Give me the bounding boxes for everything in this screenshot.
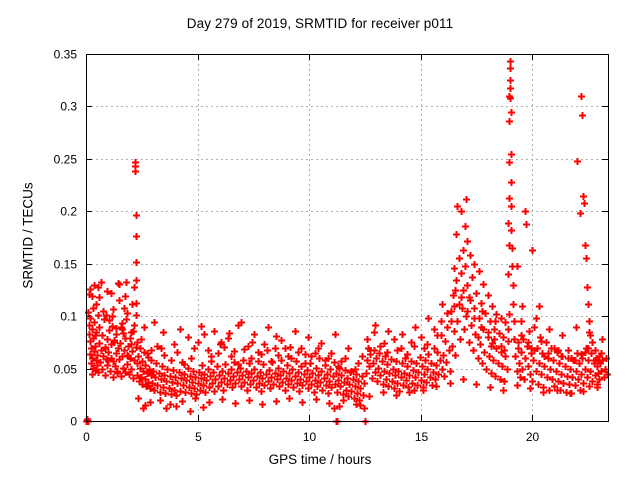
y-tick-label: 0.35 — [54, 48, 78, 62]
x-tick-label: 15 — [415, 430, 429, 444]
y-tick-label: 0.15 — [54, 258, 78, 272]
y-tick-label: 0.05 — [54, 363, 78, 377]
x-tick-label: 20 — [526, 430, 540, 444]
x-tick-label: 5 — [195, 430, 202, 444]
x-tick-label: 10 — [303, 430, 317, 444]
y-tick-label: 0.1 — [60, 310, 77, 324]
y-tick-label: 0.2 — [60, 205, 77, 219]
chart-figure: Day 279 of 2019, SRMTID for receiver p01… — [0, 0, 640, 480]
scatter-plot-canvas: 00.050.10.150.20.250.30.3505101520 — [0, 0, 640, 480]
y-tick-label: 0 — [70, 415, 77, 429]
x-tick-label: 0 — [83, 430, 90, 444]
y-tick-label: 0.25 — [54, 153, 78, 167]
y-tick-label: 0.3 — [60, 100, 77, 114]
